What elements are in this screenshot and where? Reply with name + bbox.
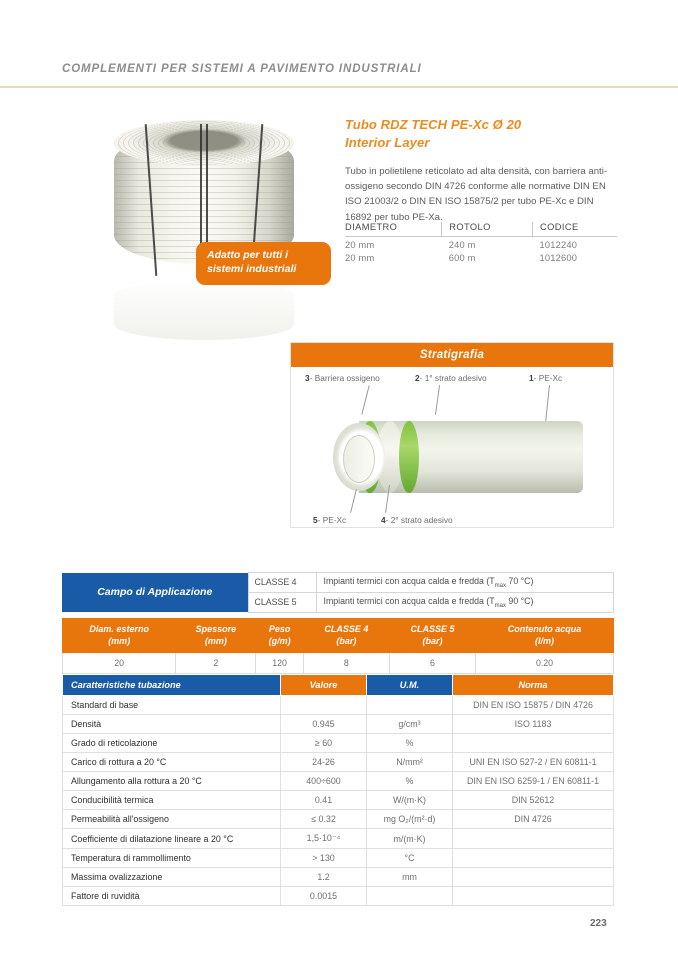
col-diametro: DIAMETRO: [345, 222, 442, 237]
cell-um: g/cm³: [367, 715, 453, 734]
cell-um: %: [367, 734, 453, 753]
cell-norma: [453, 868, 614, 887]
cell-caratteristica: Allungamento alla rottura a 20 °C: [63, 772, 281, 791]
table-row: Carico di rottura a 20 °C24-26N/mm²UNI E…: [63, 753, 614, 772]
table-row: Coefficiente di dilatazione lineare a 20…: [63, 829, 614, 849]
cell-diametro: 20 mm: [345, 237, 442, 251]
value-classe-4: 8: [303, 653, 389, 674]
cell-um: [367, 887, 453, 906]
value-contenuto-acqua: 0.20: [476, 653, 614, 674]
pipe-mouth: [333, 423, 385, 491]
cell-codice: 1012600: [533, 250, 617, 263]
table-row: Fattore di ruvidità0.0015: [63, 887, 614, 906]
value-diam-esterno: 20: [63, 653, 176, 674]
layer-text-4: - 2° strato adesivo: [386, 515, 453, 525]
col-codice: CODICE: [533, 222, 617, 237]
col-valore: Valore: [281, 675, 367, 696]
col-norma: Norma: [453, 675, 614, 696]
leader-line: [361, 385, 369, 414]
desc-subscript: max: [495, 583, 506, 589]
header-line-2: (bar): [422, 636, 442, 646]
table-row: Permeabilità all'ossigeno≤ 0.32mg O₂/(m²…: [63, 810, 614, 829]
cell-um: [367, 696, 453, 715]
cell-rotolo: 240 m: [442, 237, 533, 251]
page: COMPLEMENTI PER SISTEMI A PAVIMENTO INDU…: [0, 0, 678, 959]
cell-caratteristica: Massima ovalizzazione: [63, 868, 281, 887]
cell-diametro: 20 mm: [345, 250, 442, 263]
table-row: Standard di baseDIN EN ISO 15875 / DIN 4…: [63, 696, 614, 715]
cell-caratteristica: Conducibilità termica: [63, 791, 281, 810]
layer-text-2: - 1° strato adesivo: [420, 373, 487, 383]
header-line-1: CLASSE 4: [324, 624, 368, 634]
layer-label-3: 3- Barriera ossigeno: [305, 373, 380, 383]
col-classe-4: CLASSE 4(bar): [303, 619, 389, 653]
cell-um: N/mm²: [367, 753, 453, 772]
cell-valore: [281, 696, 367, 715]
col-contenuto-acqua: Contenuto acqua(l/m): [476, 619, 614, 653]
header-line-2: (g/m): [269, 636, 291, 646]
layer-text-1: - PE-Xc: [534, 373, 563, 383]
value-peso: 120: [256, 653, 303, 674]
page-number: 223: [590, 918, 607, 929]
product-description: Tubo in polietilene reticolato ad alta d…: [345, 164, 617, 225]
desc-subscript: max: [495, 603, 506, 609]
header-line-1: Contenuto acqua: [508, 624, 582, 634]
header-line-2: (l/m): [535, 636, 554, 646]
cell-caratteristica: Temperatura di rammollimento: [63, 849, 281, 868]
leader-line: [435, 385, 440, 415]
table-row: 20 2 120 8 6 0.20: [63, 653, 614, 674]
col-um: U.M.: [367, 675, 453, 696]
cell-norma: ISO 1183: [453, 715, 614, 734]
product-title-line-1: Tubo RDZ TECH PE-Xc Ø 20: [345, 117, 521, 132]
cell-valore: 1,5·10⁻⁴: [281, 829, 367, 849]
cell-um: %: [367, 772, 453, 791]
cell-um: mm: [367, 868, 453, 887]
table-row: Massima ovalizzazione1.2mm: [63, 868, 614, 887]
col-peso: Peso(g/m): [256, 619, 303, 653]
cell-rotolo: 600 m: [442, 250, 533, 263]
cell-norma: DIN 52612: [453, 791, 614, 810]
header-line-2: (mm): [108, 636, 130, 646]
header-line-1: Diam. esterno: [89, 624, 149, 634]
cell-codice: 1012240: [533, 237, 617, 251]
header-line-1: CLASSE 5: [410, 624, 454, 634]
badge-line-1: Adatto per tutti i: [207, 249, 288, 261]
table-row: Densità0.945g/cm³ISO 1183: [63, 715, 614, 734]
desc-post: 90 °C): [506, 596, 533, 606]
table-row: 20 mm 600 m 1012600: [345, 250, 617, 263]
cell-um: mg O₂/(m²·d): [367, 810, 453, 829]
cell-classe: CLASSE 4: [248, 573, 316, 593]
header-line-1: Spessore: [196, 624, 237, 634]
col-caratteristiche: Caratteristiche tubazione: [63, 675, 281, 696]
cell-valore: ≤ 0.32: [281, 810, 367, 829]
pipe-bore: [343, 435, 375, 483]
spec-table: Diam. esterno(mm) Spessore(mm) Peso(g/m)…: [62, 618, 614, 674]
value-spessore: 2: [176, 653, 256, 674]
caratteristiche-table: Caratteristiche tubazione Valore U.M. No…: [62, 674, 614, 906]
header-line-2: (mm): [205, 636, 227, 646]
table-row: Temperatura di rammollimento> 130°C: [63, 849, 614, 868]
stratigrafia-title: Stratigrafia: [291, 343, 613, 367]
cell-valore: 400÷600: [281, 772, 367, 791]
value-classe-5: 6: [389, 653, 475, 674]
table-row: Conducibilità termica0.41W/(m·K)DIN 5261…: [63, 791, 614, 810]
cell-valore: 0.41: [281, 791, 367, 810]
cell-um: °C: [367, 849, 453, 868]
cell-descrizione: Impianti termici con acqua calda e fredd…: [316, 592, 614, 612]
cell-caratteristica: Standard di base: [63, 696, 281, 715]
leader-line: [545, 385, 550, 423]
cell-caratteristica: Carico di rottura a 20 °C: [63, 753, 281, 772]
cell-um: m/(m·K): [367, 829, 453, 849]
desc-post: 70 °C): [506, 576, 533, 586]
col-classe-5: CLASSE 5(bar): [389, 619, 475, 653]
stratigrafia-diagram: 3- Barriera ossigeno 2- 1° strato adesiv…: [291, 367, 613, 527]
header-line-2: (bar): [336, 636, 356, 646]
cell-norma: DIN EN ISO 6259-1 / EN 60811-1: [453, 772, 614, 791]
table-header-row: Diam. esterno(mm) Spessore(mm) Peso(g/m)…: [63, 619, 614, 653]
layer-label-5: 5- PE-Xc: [313, 515, 346, 525]
product-title: Tubo RDZ TECH PE-Xc Ø 20 Interior Layer: [345, 116, 617, 151]
product-info: Tubo RDZ TECH PE-Xc Ø 20 Interior Layer …: [345, 116, 617, 225]
cell-norma: [453, 829, 614, 849]
page-title: COMPLEMENTI PER SISTEMI A PAVIMENTO INDU…: [62, 63, 422, 75]
table-header-row: DIAMETRO ROTOLO CODICE: [345, 222, 617, 237]
cell-um: W/(m·K): [367, 791, 453, 810]
table-row: Allungamento alla rottura a 20 °C400÷600…: [63, 772, 614, 791]
cell-norma: [453, 849, 614, 868]
coil-top: [114, 120, 294, 166]
pipe-cutaway-illustration: [333, 421, 583, 493]
desc-pre: Impianti termici con acqua calda e fredd…: [324, 576, 495, 586]
cell-caratteristica: Grado di reticolazione: [63, 734, 281, 753]
coil-reflection: [114, 280, 294, 340]
header-divider: [0, 86, 678, 88]
cell-valore: > 130: [281, 849, 367, 868]
product-title-line-2: Interior Layer: [345, 135, 429, 150]
diametro-table: DIAMETRO ROTOLO CODICE 20 mm 240 m 10122…: [345, 222, 617, 263]
cell-norma: DIN 4726: [453, 810, 614, 829]
desc-pre: Impianti termici con acqua calda e fredd…: [324, 596, 495, 606]
col-spessore: Spessore(mm): [176, 619, 256, 653]
header-line-1: Peso: [269, 624, 291, 634]
campo-applicazione-table: Campo di Applicazione CLASSE 4 Impianti …: [62, 572, 614, 613]
cell-valore: 24-26: [281, 753, 367, 772]
layer-label-2: 2- 1° strato adesivo: [415, 373, 487, 383]
table-header-row: Caratteristiche tubazione Valore U.M. No…: [63, 675, 614, 696]
cell-descrizione: Impianti termici con acqua calda e fredd…: [316, 573, 614, 593]
layer-label-4: 4- 2° strato adesivo: [381, 515, 453, 525]
stratigrafia-panel: Stratigrafia 3- Barriera ossigeno 2- 1° …: [290, 342, 614, 528]
layer-text-5: - PE-Xc: [318, 515, 347, 525]
cell-norma: [453, 734, 614, 753]
cell-valore: 0.0015: [281, 887, 367, 906]
campo-applicazione-title: Campo di Applicazione: [62, 573, 248, 613]
cell-norma: [453, 887, 614, 906]
cell-norma: UNI EN ISO 527-2 / EN 60811-1: [453, 753, 614, 772]
layer-text-3: - Barriera ossigeno: [310, 373, 380, 383]
cell-caratteristica: Coefficiente di dilatazione lineare a 20…: [63, 829, 281, 849]
cell-valore: ≥ 60: [281, 734, 367, 753]
col-rotolo: ROTOLO: [442, 222, 533, 237]
cell-caratteristica: Permeabilità all'ossigeno: [63, 810, 281, 829]
cell-caratteristica: Fattore di ruvidità: [63, 887, 281, 906]
col-diam-esterno: Diam. esterno(mm): [63, 619, 176, 653]
cell-valore: 0.945: [281, 715, 367, 734]
pipe-adhesive-ring-2: [399, 421, 419, 493]
product-photo: Adatto per tutti i sistemi industriali: [62, 112, 334, 328]
layer-label-1: 1- PE-Xc: [529, 373, 562, 383]
cell-valore: 1.2: [281, 868, 367, 887]
cell-classe: CLASSE 5: [248, 592, 316, 612]
table-row: Grado di reticolazione≥ 60%: [63, 734, 614, 753]
table-row: 20 mm 240 m 1012240: [345, 237, 617, 251]
cell-norma: DIN EN ISO 15875 / DIN 4726: [453, 696, 614, 715]
suitability-badge: Adatto per tutti i sistemi industriali: [196, 242, 331, 285]
badge-line-2: sistemi industriali: [207, 263, 296, 275]
cell-caratteristica: Densità: [63, 715, 281, 734]
table-row: Campo di Applicazione CLASSE 4 Impianti …: [62, 573, 614, 593]
